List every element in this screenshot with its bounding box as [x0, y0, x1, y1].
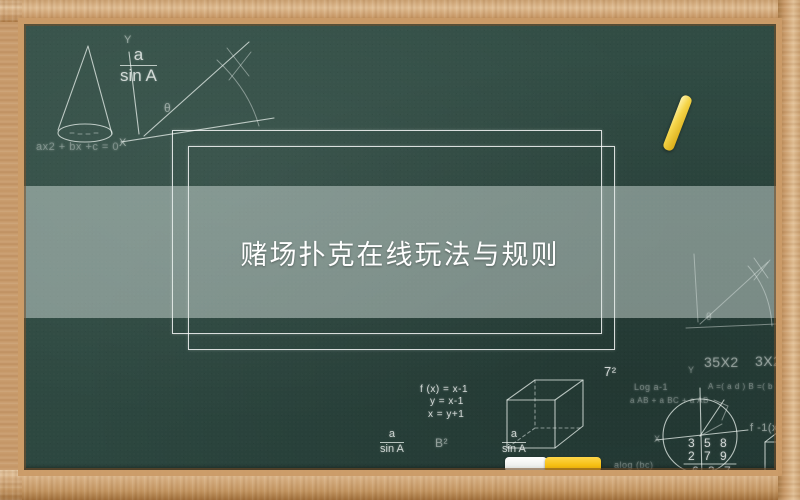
frame-right: [778, 0, 800, 500]
axis-label-y-bottomright: Y: [688, 365, 695, 375]
quadratic-equation-text: ax2 + bx +c = 0: [36, 141, 119, 153]
multiplication-3x2-text: 3X2: [755, 353, 776, 369]
frame-left: [0, 0, 22, 500]
function-x-text: x = y+1: [428, 409, 464, 420]
axis-label-x-topleft: X: [119, 137, 127, 149]
ledge-shadow: [24, 464, 776, 470]
frame-top: [0, 0, 800, 22]
function-fx-text: f (x) = x-1: [420, 383, 468, 396]
exponent-seven-squared-text: 7²: [604, 364, 617, 379]
sum-line-1-text: 3 5 8: [688, 436, 730, 450]
axis-label-x-bottomright: X: [654, 434, 661, 444]
power-b-squared-text: B²: [435, 436, 448, 450]
white-chalk-tray-icon: [505, 457, 547, 470]
sum-line-2-text: 2 7 9: [688, 449, 730, 463]
angle-label-theta-topleft: θ: [164, 101, 171, 115]
axis-label-y-topleft: Y: [124, 34, 132, 46]
multiplication-35x2-text: 35X2: [704, 354, 739, 370]
function-y-text: y = x-1: [430, 396, 464, 407]
fraction-a-over-sina-bottomleft: a sin A: [380, 429, 404, 455]
cube-drawing-right-icon: [759, 402, 776, 470]
page-title: 赌场扑克在线玩法与规则: [24, 186, 776, 318]
chalkboard-surface: a sin A Y X θ ax2 + bx +c = 0 a sin A B²…: [24, 24, 776, 470]
yellow-chalk-tray-icon: [545, 457, 601, 470]
frame-bottom-ledge: [0, 470, 800, 500]
chalkboard-banner: a sin A Y X θ ax2 + bx +c = 0 a sin A B²…: [0, 0, 800, 500]
fraction-a-over-sina-center: a sin A: [502, 429, 526, 455]
